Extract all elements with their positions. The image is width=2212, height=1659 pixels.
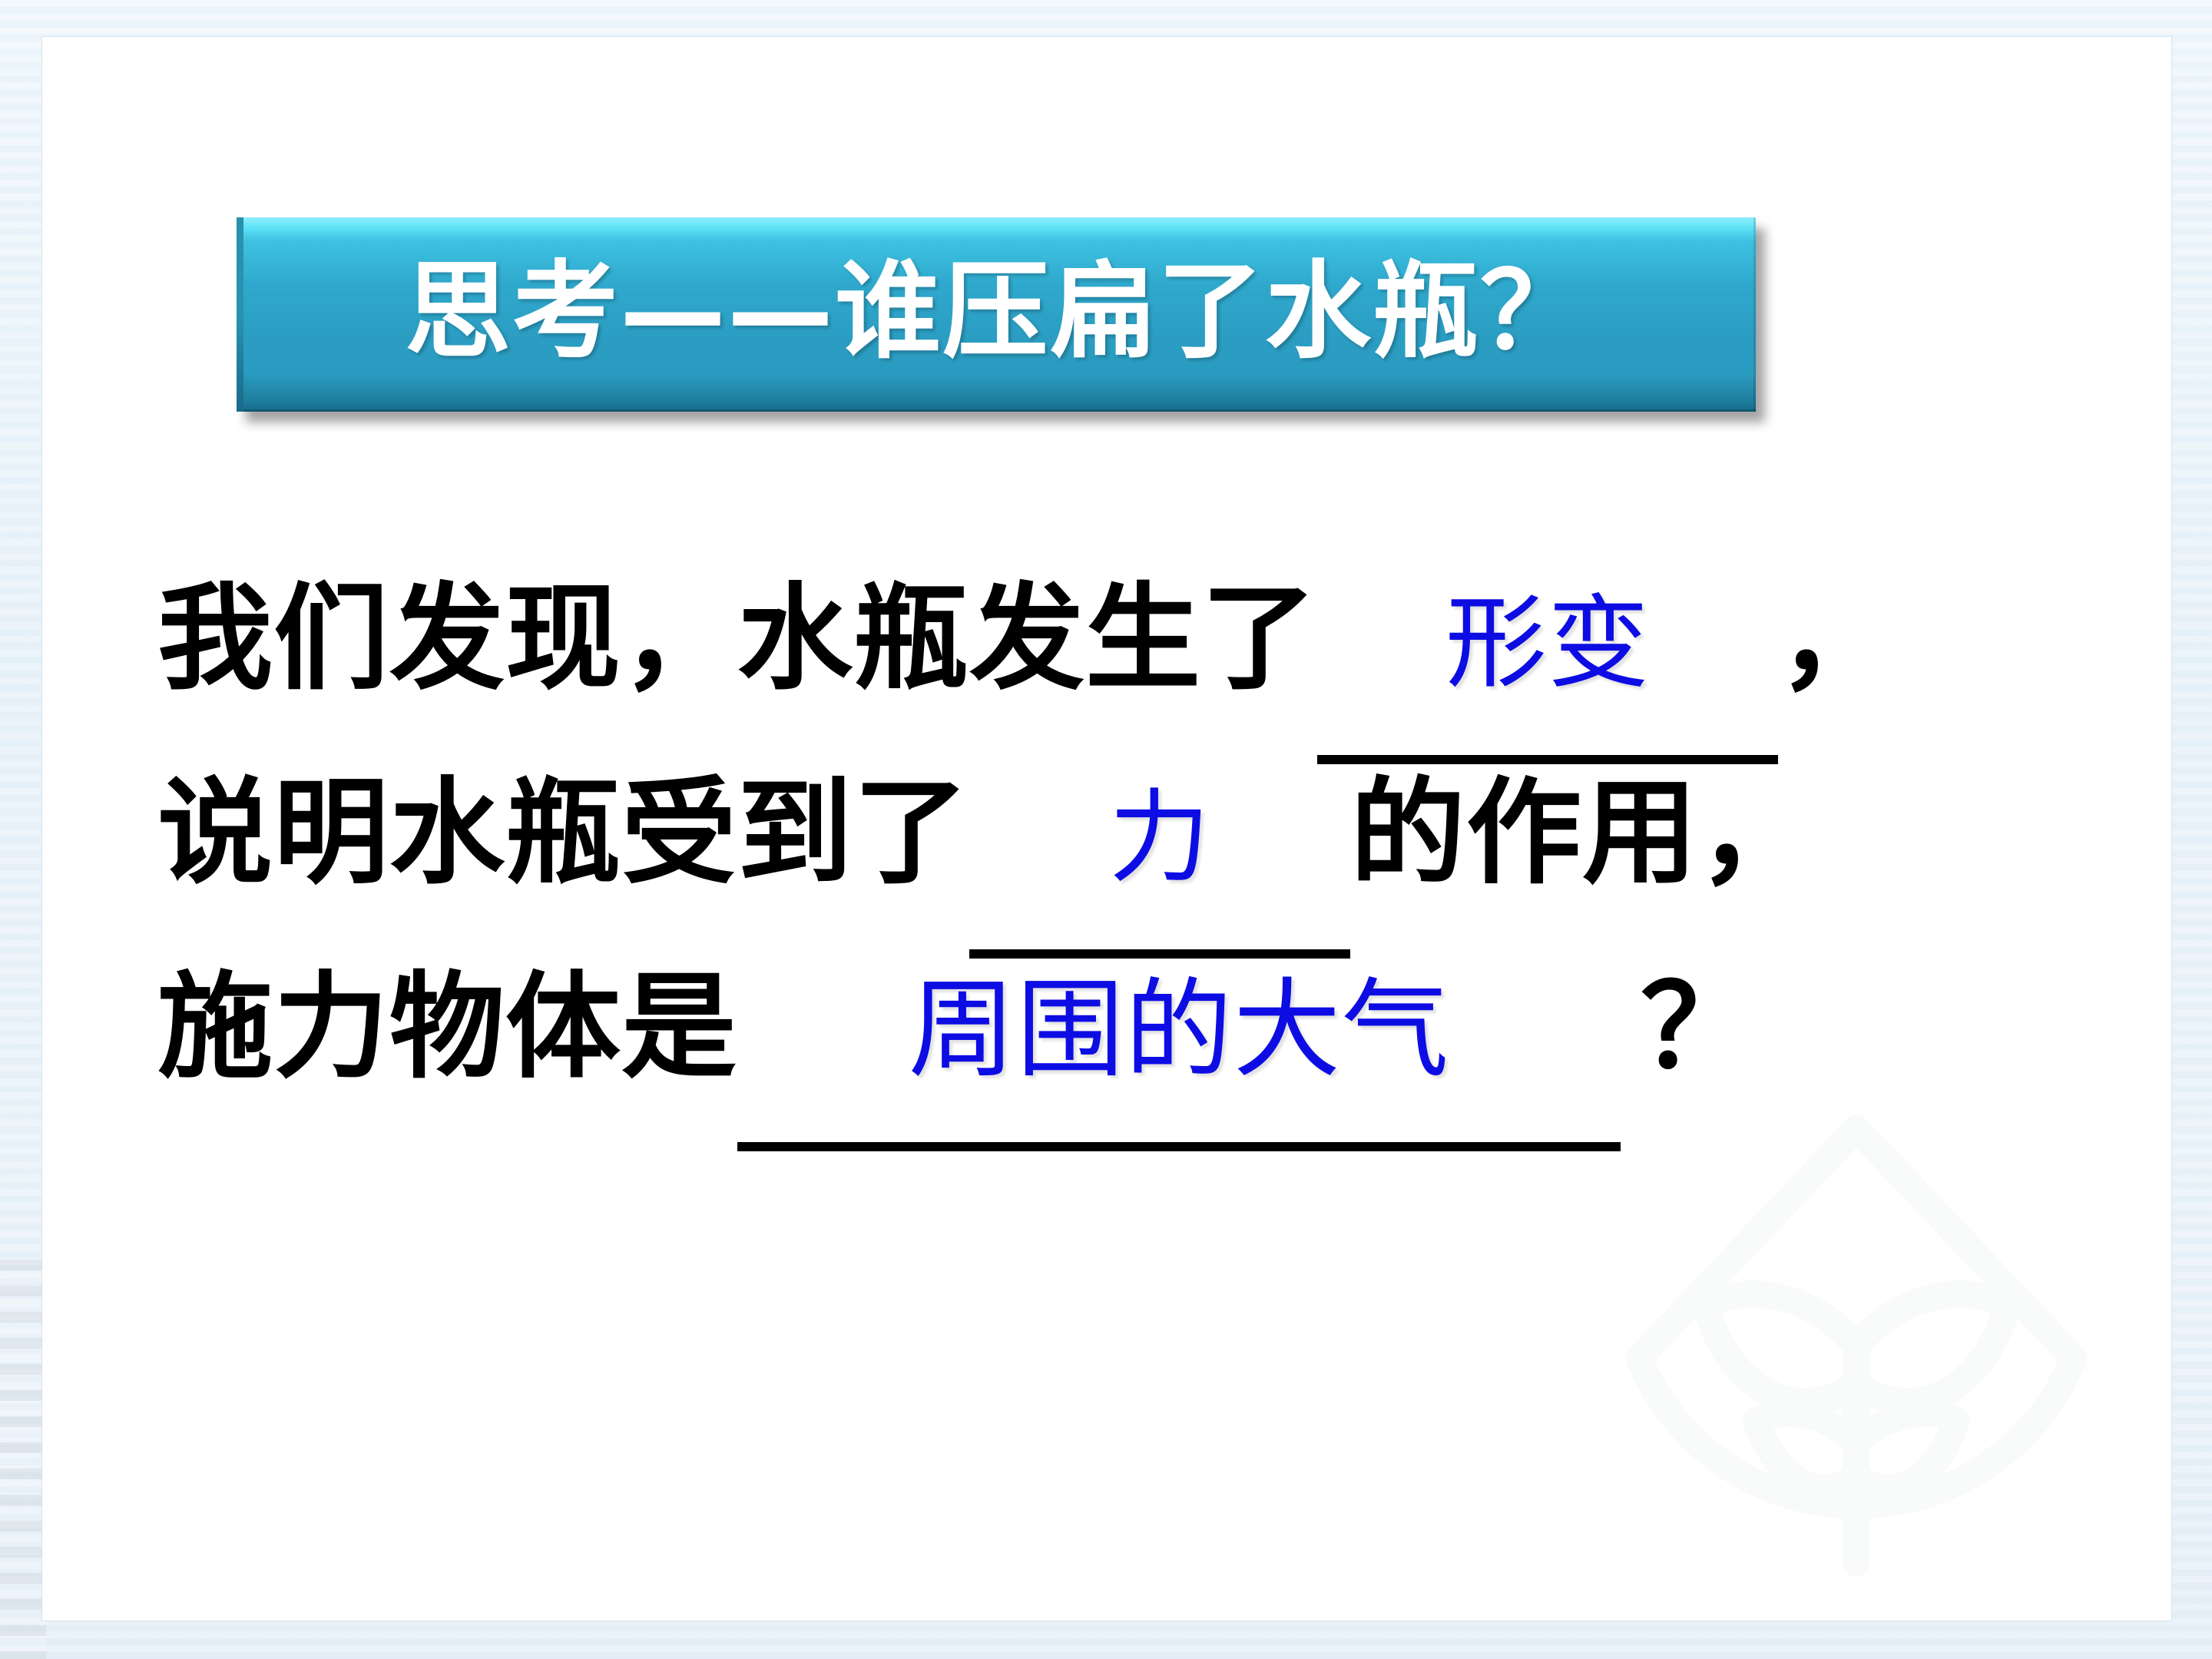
body-line-3: 施力物体是周围的大气？ — [157, 932, 2124, 1125]
title-banner: 思考——谁压扁了水瓶？ — [237, 217, 1756, 412]
body-text-block: 我们发现，水瓶发生了形变， 说明水瓶受到了力的作用， 施力物体是周围的大气？ — [157, 544, 2124, 1125]
line3-answer-blank[interactable]: 周围的大气 — [737, 936, 1621, 1125]
title-banner-body: 思考——谁压扁了水瓶？ — [237, 217, 1756, 412]
line1-prefix: 我们发现，水瓶发生了 — [157, 571, 1317, 706]
line1-suffix: ， — [1778, 571, 1894, 706]
line1-answer-blank[interactable]: 形变 — [1317, 549, 1778, 738]
line3-prefix: 施力物体是 — [157, 959, 737, 1094]
title-banner-left-bevel — [237, 217, 243, 412]
slide-canvas: 思考——谁压扁了水瓶？ 我们发现，水瓶发生了形变， 说明水瓶受到了力的作用， 施… — [42, 37, 2171, 1621]
slide-root: 思考——谁压扁了水瓶？ 我们发现，水瓶发生了形变， 说明水瓶受到了力的作用， 施… — [0, 0, 2212, 1659]
line2-prefix: 说明水瓶受到了 — [157, 765, 969, 900]
body-line-1: 我们发现，水瓶发生了形变， — [157, 544, 2124, 738]
body-line-2: 说明水瓶受到了力的作用， — [157, 738, 2124, 932]
title-banner-label: 思考——谁压扁了水瓶？ — [405, 259, 1588, 365]
line2-answer-blank[interactable]: 力 — [969, 743, 1350, 932]
slide-border-texture-left — [0, 1260, 46, 1659]
line3-suffix: ？ — [1641, 959, 1757, 1094]
line2-suffix: 的作用， — [1350, 765, 1814, 900]
tree-logo-watermark-icon — [1572, 1091, 2141, 1613]
